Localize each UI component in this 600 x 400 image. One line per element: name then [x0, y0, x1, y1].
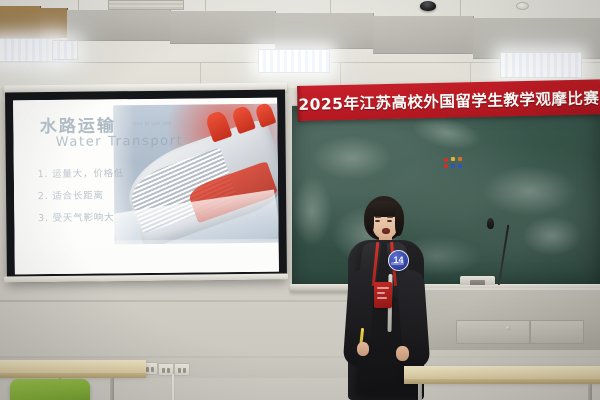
ceiling-light-left-2 [52, 40, 78, 60]
dome-camera-icon [420, 1, 436, 11]
desk-right [404, 366, 600, 380]
speaker-hand-right [396, 346, 409, 361]
wall-panel-3 [275, 13, 374, 49]
presentation-slide: 水路运输 shuǐ lù yùn shū Water Transport 1. … [13, 98, 279, 275]
slide-title-en: Water Transport [56, 133, 184, 149]
slide-bullet: 2. 适合长距离 [38, 187, 125, 202]
magnet [458, 157, 462, 161]
chair-green[interactable] [10, 379, 90, 400]
speaker-hair-right [395, 208, 404, 236]
ceiling-light-right [500, 52, 582, 78]
ceiling-vent [108, 0, 184, 10]
lectern-panel-right [530, 320, 584, 344]
magnet [458, 164, 462, 168]
smoke-detector-icon [516, 2, 529, 10]
speaker-hand-left [357, 342, 369, 356]
wall-wood-panel-2 [40, 8, 68, 38]
classroom-scene: 2025年江苏高校外国留学生教学观摩比赛 水路运输 [0, 0, 600, 400]
speaker-badge-underline [391, 262, 404, 265]
speaker-number-badge: 14 [388, 250, 409, 271]
lectern-panel-left [456, 320, 530, 344]
ceiling-light-center [258, 49, 330, 73]
ceiling-light-left [0, 38, 60, 62]
slide-title-pinyin: shuǐ lù yùn shū [132, 120, 171, 126]
wall-outlet-3[interactable] [174, 363, 190, 376]
wall-wood-panel [0, 6, 41, 38]
slide-bullet-list: 1. 运量大，价格低 2. 适合长距离 3. 受天气影响大 [38, 165, 125, 224]
projector-screen: 水路运输 shuǐ lù yùn shū Water Transport 1. … [5, 90, 287, 283]
magnet [451, 164, 455, 168]
power-cable [172, 374, 174, 400]
desk-left [0, 360, 146, 374]
slide-bullet: 3. 受天气影响大 [38, 209, 125, 224]
speaker-hair-left [366, 208, 374, 234]
magnet [451, 157, 455, 161]
slide-bullet: 1. 运量大，价格低 [38, 165, 125, 180]
projector-screen-surface: 水路运输 shuǐ lù yùn shū Water Transport 1. … [13, 98, 279, 275]
magnet [444, 158, 448, 162]
speaker-id-card [374, 282, 392, 308]
banner-title: 2025年江苏高校外国留学生教学观摩比赛 [298, 86, 600, 115]
gooseneck-microphone-head [487, 218, 494, 229]
event-banner: 2025年江苏高校外国留学生教学观摩比赛 [297, 79, 600, 121]
lectern-knob[interactable] [506, 326, 510, 330]
speaker-mouth [382, 228, 390, 234]
banner-left-fold [297, 86, 304, 122]
wall-panel-4 [373, 16, 474, 54]
wall-panel-1 [67, 10, 171, 41]
magnet [444, 164, 448, 168]
wall-panel-2 [170, 11, 276, 44]
